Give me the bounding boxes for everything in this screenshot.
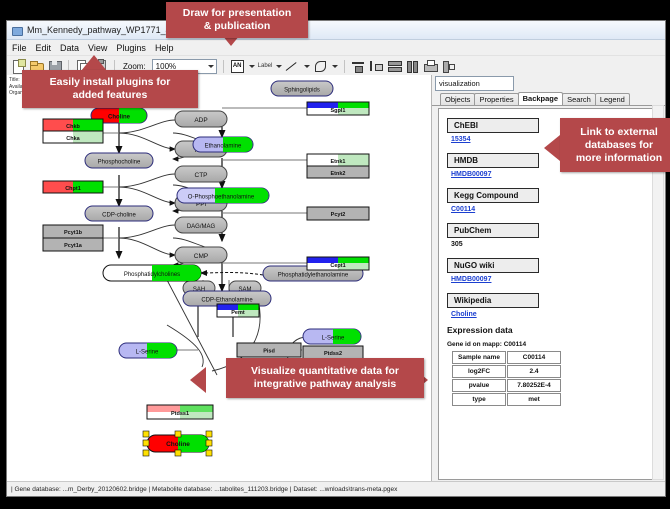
node-label: CDP-choline — [102, 213, 136, 219]
node-label: Phosphatidylethanolamine — [278, 273, 349, 279]
chevron-down-icon[interactable] — [304, 65, 310, 68]
cell-value: 2.4 — [507, 365, 561, 378]
menu-item-help[interactable]: Help — [155, 43, 174, 53]
gene-box-pemt: Pemt — [217, 304, 259, 317]
node-label: Choline — [166, 441, 190, 448]
gene-box-chkb: Chkb — [43, 119, 103, 131]
toolbar-divider — [223, 60, 224, 73]
callout-arrow-up-plugins — [81, 55, 107, 71]
visualization-value: visualization — [439, 79, 480, 88]
tab-properties[interactable]: Properties — [474, 93, 518, 105]
status-bar: | Gene database: ...m_Derby_20120602.bri… — [7, 481, 665, 496]
node-label: CMP — [194, 253, 208, 260]
tab-search[interactable]: Search — [562, 93, 596, 105]
annotation-glyph: AN — [231, 60, 244, 73]
db-value-pubchem: 305 — [451, 241, 658, 248]
node-label: CTP — [195, 172, 208, 179]
node-label: Sphingolipids — [284, 88, 320, 94]
print-tool-icon[interactable] — [423, 59, 438, 74]
db-label-chebi: ChEBI — [447, 118, 539, 133]
gene-box-pisd: Pisd — [237, 343, 301, 357]
table-row: Sample name C00114 — [452, 351, 561, 364]
menu-item-plugins[interactable]: Plugins — [116, 43, 146, 53]
expression-data-table: Sample name C00114 log2FC 2.4 pvalue 7.8… — [451, 350, 562, 407]
cell-value: C00114 — [507, 351, 561, 364]
node-label: Ptdss2 — [324, 351, 342, 357]
status-bar-text: | Gene database: ...m_Derby_20120602.bri… — [11, 486, 397, 493]
gene-box-pcyt1b: Pcyt1b — [43, 225, 103, 238]
node-label: Phosphatidylcholines — [124, 272, 180, 278]
callout-arrow-left-visualize — [190, 367, 206, 393]
gene-box-cept1: Cept1 — [307, 257, 369, 270]
callout-text: Draw for presentation& publication — [183, 7, 292, 33]
menu-item-file[interactable]: File — [12, 43, 27, 53]
pathway-canvas[interactable]: Title: Availa Organi — [7, 75, 431, 484]
tab-objects[interactable]: Objects — [440, 93, 475, 105]
chevron-down-icon[interactable] — [276, 65, 282, 68]
db-label-nugo-wiki: NuGO wiki — [447, 258, 539, 273]
node-l-serine-right: L-Serine — [303, 329, 361, 344]
menu-item-view[interactable]: View — [88, 43, 107, 53]
chevron-down-icon[interactable] — [332, 65, 338, 68]
gene-box-etnk2: Etnk2 — [307, 166, 369, 178]
chevron-down-icon[interactable] — [249, 65, 255, 68]
node-label: Sgpl1 — [331, 108, 346, 114]
node-label: Ethanolamine — [205, 144, 242, 150]
tab-backpage[interactable]: Backpage — [518, 92, 563, 105]
callout-text: Visualize quantitative data forintegrati… — [251, 365, 399, 391]
menu-item-edit[interactable]: Edit — [36, 43, 52, 53]
node-phosphatidylcholines: Phosphatidylcholines — [103, 265, 201, 281]
menu-item-data[interactable]: Data — [60, 43, 79, 53]
node-sphingolipids: Sphingolipids — [271, 81, 333, 96]
tab-legend[interactable]: Legend — [595, 93, 630, 105]
callout-install-plugins: Easily install plugins foradded features — [22, 70, 198, 108]
node-adp: ADP — [175, 111, 227, 127]
node-label: Ptdss1 — [171, 411, 189, 417]
title-bar: Mm_Kennedy_pathway_WP1771_45176.gpml — [7, 21, 665, 40]
pathway-diagram: ADP ATP CTP — [7, 75, 431, 484]
node-label: Pcyt1a — [64, 243, 83, 249]
line-tool-icon[interactable] — [285, 59, 300, 74]
node-label: Pemt — [231, 310, 245, 316]
node-cmp: CMP — [175, 247, 227, 263]
cell-key: pvalue — [452, 379, 506, 392]
db-label-kegg-compound: Kegg Compound — [447, 188, 539, 203]
node-label: Cept1 — [330, 263, 345, 269]
node-o-phosphoethanolamine: O-Phosphoethanolamine — [177, 188, 269, 203]
expression-data-title: Expression data — [447, 325, 658, 335]
node-label: L-Serine — [136, 350, 159, 356]
gene-box-pcyt1a: Pcyt1a — [43, 238, 103, 251]
cell-key: log2FC — [452, 365, 506, 378]
callout-visualize-data: Visualize quantitative data forintegrati… — [226, 358, 424, 398]
gene-id-line: Gene id on mapp: C00114 — [447, 341, 658, 348]
cell-key: Sample name — [452, 351, 506, 364]
anchor-tool-icon[interactable] — [313, 59, 328, 74]
gene-box-chpt1: Chpt1 — [43, 181, 103, 193]
node-ethanolamine-top: Ethanolamine — [193, 137, 253, 152]
columns-tool-icon[interactable] — [405, 59, 420, 74]
stack-tool-icon[interactable] — [387, 59, 402, 74]
toolbar-divider — [344, 60, 345, 73]
db-label-wikipedia: Wikipedia — [447, 293, 539, 308]
gene-box-pcyt2: Pcyt2 — [307, 207, 369, 220]
node-label: L-Serine — [322, 336, 345, 342]
node-label: Chkb — [66, 124, 80, 130]
node-choline-selected: Choline — [143, 431, 212, 456]
node-label: Chka — [66, 136, 80, 142]
callout-text: Easily install plugins foradded features — [50, 76, 171, 102]
node-label: Etnk1 — [331, 159, 346, 165]
callout-text: Link to externaldatabases formore inform… — [576, 126, 662, 165]
screenshot-root: Mm_Kennedy_pathway_WP1771_45176.gpml Fil… — [0, 0, 670, 509]
node-ctp: CTP — [175, 166, 227, 182]
db-link-hmdb[interactable]: HMDB00097 — [451, 171, 658, 178]
pathway-canvas-panel: Title: Availa Organi — [7, 75, 432, 496]
node-label: Pcyt2 — [331, 212, 346, 218]
callout-external-links: Link to externaldatabases formore inform… — [560, 118, 670, 172]
cell-key: type — [452, 393, 506, 406]
db-link-nugo-wiki[interactable]: HMDB00097 — [451, 276, 658, 283]
visualization-combobox[interactable]: visualization — [435, 76, 514, 91]
node-label: Pcyt1b — [64, 230, 83, 236]
gene-box-sgpl1: Sgpl1 — [307, 102, 369, 115]
db-link-wikipedia[interactable]: Choline — [451, 311, 658, 318]
gene-box-chka: Chka — [43, 131, 103, 143]
side-tab-row: Objects Properties Backpage Search Legen… — [432, 91, 665, 106]
cell-value: met — [507, 393, 561, 406]
bracket-tool-icon[interactable] — [369, 59, 384, 74]
node-l-serine-left: L-Serine — [119, 343, 177, 358]
gene-box-etnk1: Etnk1 — [307, 154, 369, 166]
node-label: Pisd — [263, 349, 275, 355]
node-label: Chpt1 — [65, 186, 81, 192]
node-label: DAG/MAG — [187, 224, 216, 230]
node-label: Phosphocholine — [98, 160, 141, 166]
gene-box-ptdss1: Ptdss1 — [147, 405, 213, 419]
node-label: Etnk2 — [331, 171, 346, 177]
annotation-tool-icon[interactable]: AN — [230, 59, 245, 74]
db-label-pubchem: PubChem — [447, 223, 539, 238]
db-link-kegg-compound[interactable]: C00114 — [451, 206, 658, 213]
node-label: CDP-Ethanolamine — [201, 298, 253, 304]
node-label: Choline — [108, 115, 131, 121]
menu-bar: File Edit Data View Plugins Help — [7, 40, 665, 56]
table-row: type met — [452, 393, 561, 406]
node-label: O-Phosphoethanolamine — [188, 195, 255, 201]
node-phosphocholine: Phosphocholine — [85, 153, 153, 168]
node-dag-mag: DAG/MAG — [175, 217, 227, 233]
undo-tool-icon[interactable] — [441, 59, 456, 74]
node-cdp-choline: CDP-choline — [85, 206, 153, 221]
table-row: pvalue 7.80252E-4 — [452, 379, 561, 392]
node-label: ADP — [194, 117, 207, 124]
label-tool-label[interactable]: Label — [258, 63, 273, 69]
pathvisio-icon — [11, 25, 22, 36]
cell-value: 7.80252E-4 — [507, 379, 561, 392]
visualization-row: visualization — [432, 75, 665, 91]
table-row: log2FC 2.4 — [452, 365, 561, 378]
callout-draw-for-publication: Draw for presentation& publication — [166, 2, 308, 38]
align-tool-icon[interactable] — [351, 59, 366, 74]
callout-arrow-left-links — [544, 135, 560, 161]
db-label-hmdb: HMDB — [447, 153, 539, 168]
chevron-down-icon — [208, 65, 214, 68]
